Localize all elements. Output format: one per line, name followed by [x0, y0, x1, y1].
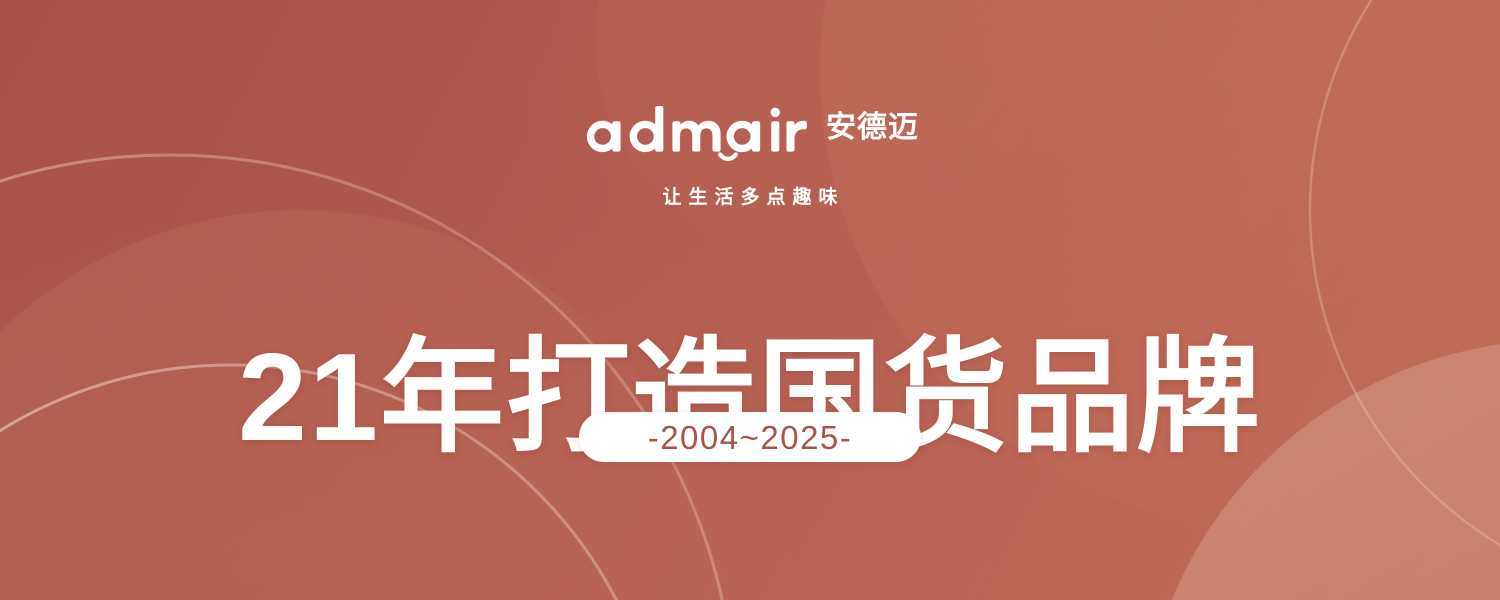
brand-logo-lockup: 安德迈	[581, 104, 919, 160]
anniversary-date-text: -2004~2025-	[648, 421, 853, 454]
letter-i-dot-icon	[771, 108, 780, 117]
smile-curve-icon	[720, 155, 736, 159]
brand-chinese-name: 安德迈	[826, 113, 919, 143]
brand-anniversary-banner: 安德迈 让生活多点趣味 21年打造国货品牌 -2004~2025-	[0, 0, 1500, 600]
brand-tagline: 让生活多点趣味	[655, 188, 844, 207]
admair-wordmark-icon	[581, 104, 812, 162]
anniversary-date-badge: -2004~2025-	[579, 412, 921, 462]
banner-content: 安德迈 让生活多点趣味 21年打造国货品牌 -2004~2025-	[0, 0, 1500, 600]
admair-wordmark	[581, 104, 812, 162]
